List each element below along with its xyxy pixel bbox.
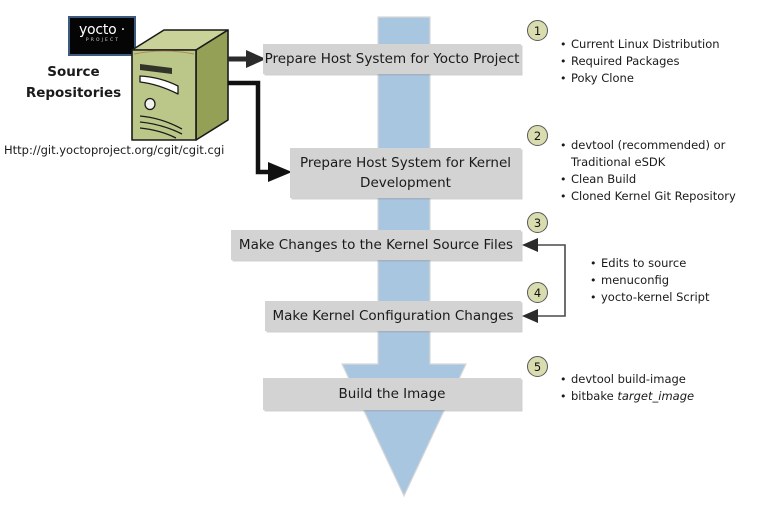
note-item: bitbake target_image xyxy=(560,388,694,405)
note-item: yocto-kernel Script xyxy=(590,289,710,306)
process-box-step-4[interactable]: Make Kernel Configuration Changes xyxy=(265,301,521,331)
note-item: Edits to source xyxy=(590,255,710,272)
step-number-circle-5: 5 xyxy=(527,356,548,377)
note-item: devtool build-image xyxy=(560,371,694,388)
process-box-step-2-label: Prepare Host System for Kernel xyxy=(300,155,511,171)
process-box-step-1-label: Prepare Host System for Yocto Project xyxy=(265,49,520,69)
process-box-step-3[interactable]: Make Changes to the Kernel Source Files xyxy=(231,230,521,260)
process-box-step-2[interactable]: Prepare Host System for Kernel Developme… xyxy=(290,148,521,198)
note-item: Current Linux Distribution xyxy=(560,36,720,53)
process-box-step-2-label-line2: Development xyxy=(360,175,451,191)
step-number-circle-4: 4 xyxy=(527,282,548,303)
step-number-circle-2: 2 xyxy=(527,125,548,146)
step-number-circle-3: 3 xyxy=(527,212,548,233)
process-box-step-3-label: Make Changes to the Kernel Source Files xyxy=(239,235,513,255)
note-item: devtool (recommended) or Traditional eSD… xyxy=(560,137,736,171)
notes-list-step-2: devtool (recommended) or Traditional eSD… xyxy=(548,137,736,205)
note-item: menuconfig xyxy=(590,272,710,289)
step-number-circle-1: 1 xyxy=(527,20,548,41)
note-item: Required Packages xyxy=(560,53,720,70)
notes-list-step-1: Current Linux Distribution Required Pack… xyxy=(548,36,720,87)
notes-list-steps-3-4: Edits to source menuconfig yocto-kernel … xyxy=(578,255,710,306)
notes-list-step-5: devtool build-image bitbake target_image xyxy=(548,371,694,405)
process-box-step-5[interactable]: Build the Image xyxy=(263,378,521,410)
kernel-development-flow-diagram: yocto · PROJECT Source Repositories Http… xyxy=(0,0,769,517)
note-item: Poky Clone xyxy=(560,70,720,87)
note-item: Clean Build xyxy=(560,171,736,188)
notes-bracket-connector-3-4 xyxy=(520,235,580,330)
process-box-step-5-label: Build the Image xyxy=(339,384,446,404)
process-box-step-4-label: Make Kernel Configuration Changes xyxy=(272,306,513,326)
note-item: Cloned Kernel Git Repository xyxy=(560,188,736,205)
process-box-step-1[interactable]: Prepare Host System for Yocto Project xyxy=(263,44,521,74)
